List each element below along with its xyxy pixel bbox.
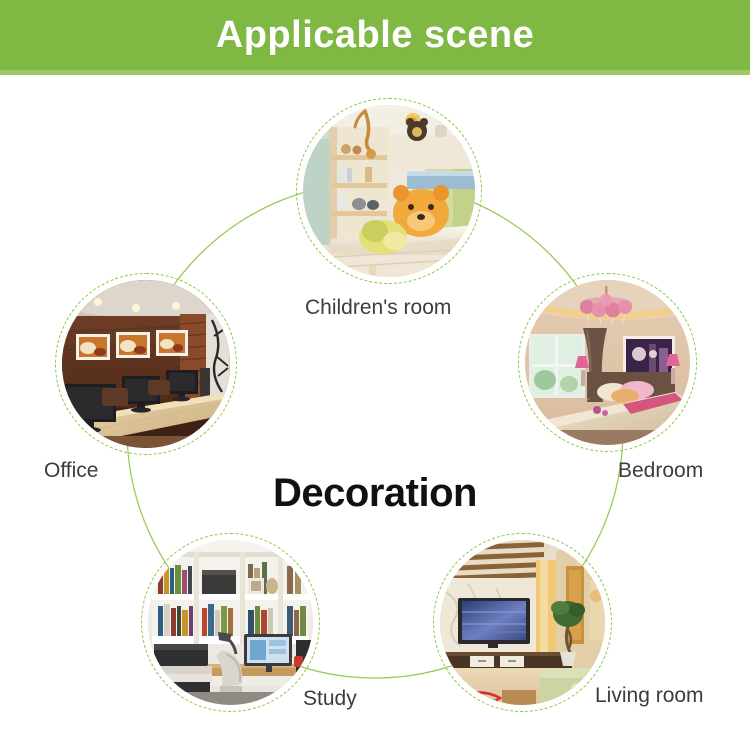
diagram-center-label: Decoration: [0, 473, 750, 513]
scene-node-bedroom[interactable]: Bedroom: [525, 280, 690, 445]
children-room-photo: [303, 105, 475, 277]
bedroom-photo: [525, 280, 690, 445]
scene-label-children-room: Children's room: [305, 297, 451, 318]
scene-label-living-room: Living room: [595, 685, 704, 706]
scene-label-study: Study: [303, 688, 357, 709]
scene-node-study[interactable]: Study: [148, 540, 313, 705]
page-root: Applicable scene: [0, 0, 750, 750]
living-room-photo: [440, 540, 605, 705]
scene-node-office[interactable]: Office: [62, 280, 230, 448]
scene-diagram: Children's room: [0, 75, 750, 750]
page-header-banner: Applicable scene: [0, 0, 750, 70]
scene-node-living-room[interactable]: Living room: [440, 540, 605, 705]
page-title: Applicable scene: [216, 16, 534, 54]
scene-node-children-room[interactable]: Children's room: [303, 105, 475, 277]
office-photo: [62, 280, 230, 448]
study-photo: [148, 540, 313, 705]
